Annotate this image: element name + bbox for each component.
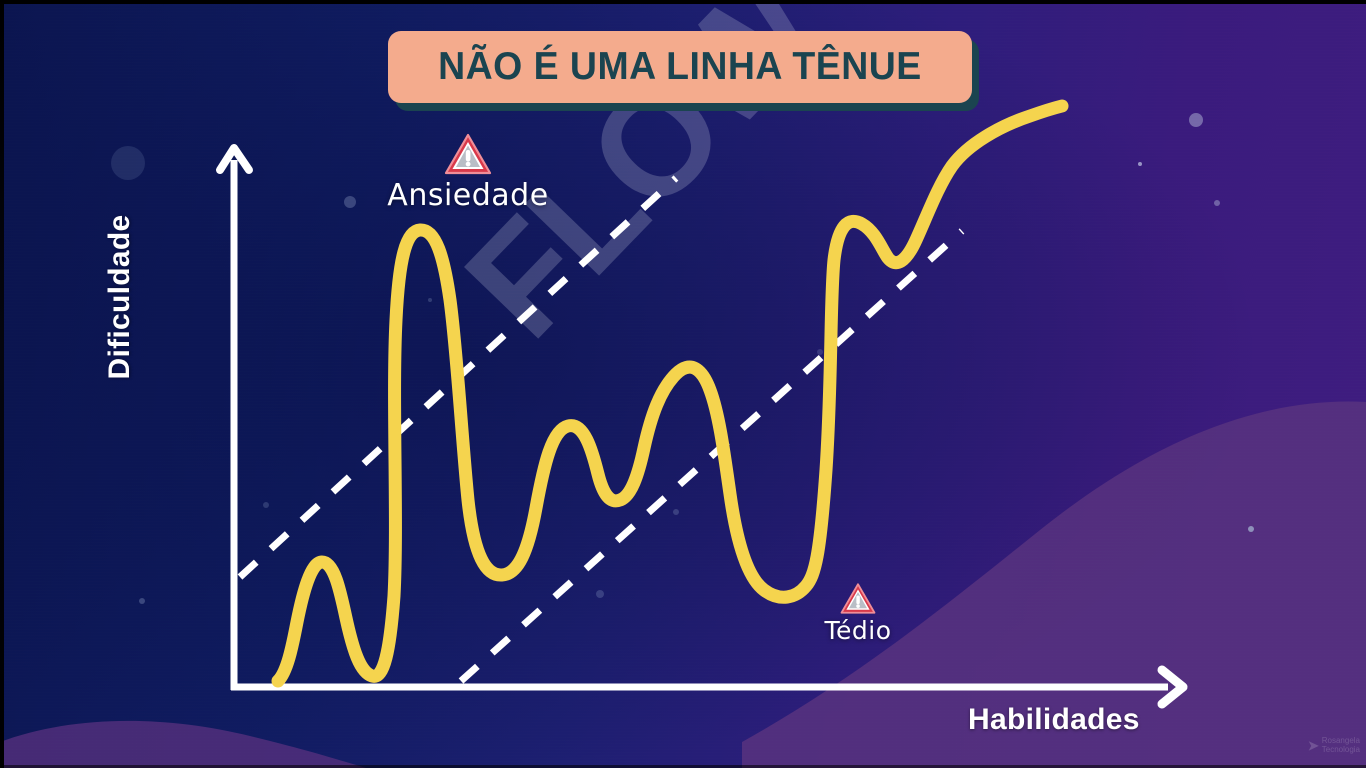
annotation-ansiedade: Ansiedade [378, 132, 558, 213]
title-banner: NÃO É UMA LINHA TÊNUE [388, 31, 972, 103]
letterbox-top-edge [0, 0, 1366, 4]
slide-canvas: FLOW Dificuldade Habilidades NÃO É UMA L… [0, 0, 1366, 768]
corner-watermark-text: Rosangela Tecnologia [1322, 737, 1360, 754]
corner-watermark-line2: Tecnologia [1322, 745, 1360, 754]
annotation-ansiedade-label: Ansiedade [378, 178, 558, 213]
y-axis-label: Dificuldade [103, 167, 137, 427]
slide-title: NÃO É UMA LINHA TÊNUE [438, 45, 922, 89]
corner-watermark: ➤ Rosangela Tecnologia [1308, 737, 1360, 754]
letterbox-left-edge [0, 0, 4, 768]
warning-triangle-icon [444, 132, 492, 176]
annotation-tedio: Tédio [800, 582, 916, 645]
x-axis-label: Habilidades [968, 703, 1140, 737]
warning-triangle-icon [840, 582, 876, 615]
y-axis [220, 148, 249, 690]
annotation-tedio-label: Tédio [800, 616, 916, 645]
title-banner-body: NÃO É UMA LINHA TÊNUE [388, 31, 972, 103]
chevron-right-icon: ➤ [1308, 739, 1319, 752]
flow-chart-graphic [0, 0, 1366, 768]
